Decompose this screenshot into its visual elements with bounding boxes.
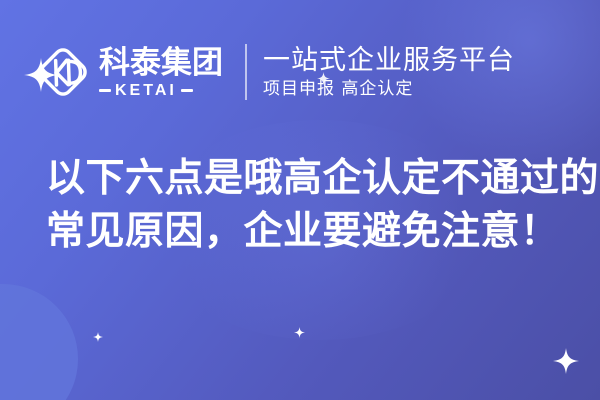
tagline-sub: 项目申报 高企认定 bbox=[263, 78, 515, 100]
tagline-main: 一站式企业服务平台 bbox=[263, 45, 515, 76]
sparkle-bottom-center-icon bbox=[294, 327, 305, 338]
headline-line-2: 常见原因，企业要避免注意！ bbox=[46, 205, 566, 258]
headline: 以下六点是哦高企认定不通过的 常见原因，企业要避免注意！ bbox=[46, 152, 566, 258]
sparkle-bottom-right-icon bbox=[553, 348, 579, 374]
header-divider bbox=[245, 44, 247, 100]
headline-line-1: 以下六点是哦高企认定不通过的 bbox=[46, 152, 566, 205]
sparkle-bottom-left-icon bbox=[93, 332, 103, 342]
tagline-block: 一站式企业服务平台 项目申报 高企认定 bbox=[263, 45, 515, 100]
brand-name-en-row: KETAI bbox=[99, 82, 223, 99]
dash-right-icon bbox=[181, 89, 193, 92]
brand-name-cn: 科泰集团 bbox=[99, 46, 223, 80]
banner-header: 科泰集团 KETAI 一站式企业服务平台 项目申报 高企认定 bbox=[0, 34, 600, 110]
background-circle-bottom-left bbox=[0, 284, 78, 400]
dash-left-icon bbox=[99, 89, 111, 92]
brand-logo[interactable]: 科泰集团 KETAI bbox=[22, 43, 223, 101]
promo-banner: 科泰集团 KETAI 一站式企业服务平台 项目申报 高企认定 以下六点是哦高企认… bbox=[0, 0, 600, 400]
ketai-diamond-monogram-icon bbox=[34, 43, 92, 101]
brand-name-en: KETAI bbox=[115, 82, 177, 99]
brand-wordmark: 科泰集团 KETAI bbox=[99, 46, 223, 99]
